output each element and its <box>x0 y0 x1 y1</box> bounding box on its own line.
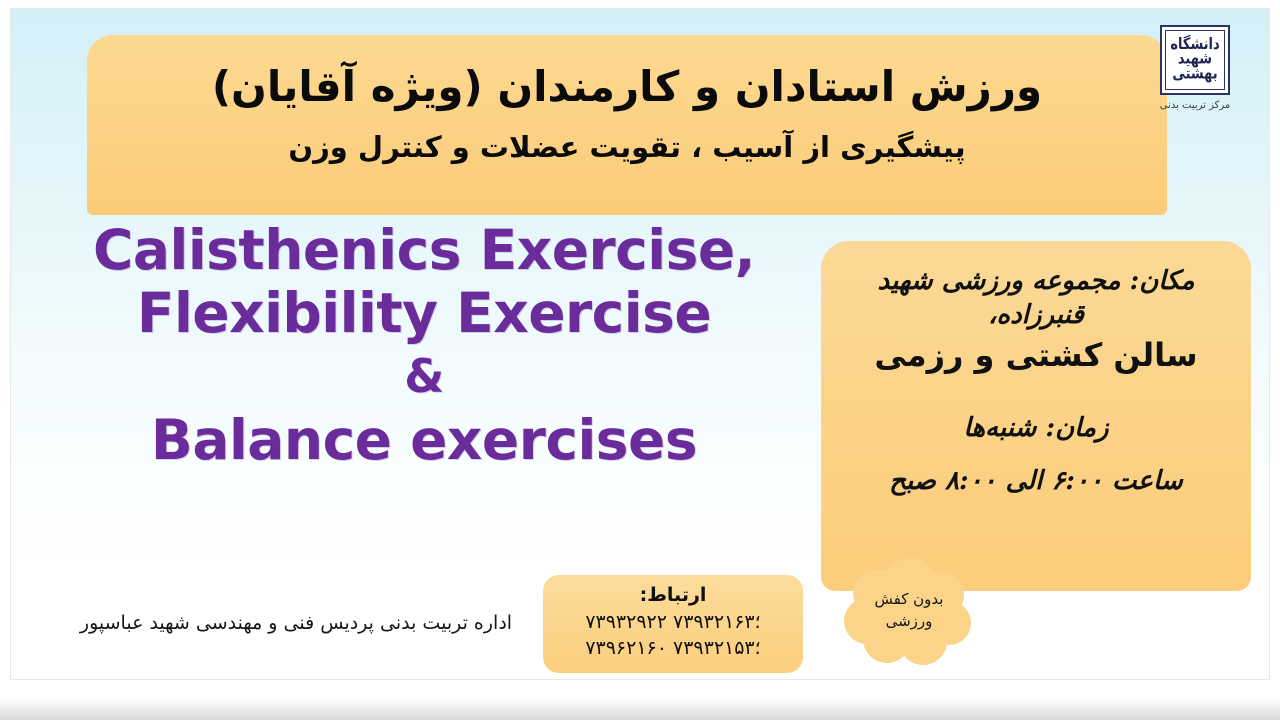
contact-phone-line-2: ۷۳۹۶۲۱۶۰ ؛۷۳۹۳۲۱۵۳ <box>553 636 793 662</box>
university-logo-glyphs: دانشگاه شهید بهشتی <box>1170 38 1219 82</box>
headline-ampersand: & <box>19 352 829 402</box>
footer-department: اداره تربیت بدنی پردیس فنی و مهندسی شهید… <box>71 612 521 634</box>
headline-line-2: Flexibility Exercise <box>19 284 829 343</box>
headline-line-1: Calisthenics Exercise, <box>19 221 829 280</box>
contact-phone-line-1: ۷۳۹۳۲۹۲۲ ؛۷۳۹۳۲۱۶۳ <box>553 610 793 636</box>
university-logo-block: دانشگاه شهید بهشتی مرکز تربیت بدنی <box>1139 25 1251 111</box>
headline-line-3: Balance exercises <box>19 411 829 470</box>
place-label: مکان: مجموعه ورزشی شهید قنبرزاده، <box>843 265 1229 333</box>
details-card: مکان: مجموعه ورزشی شهید قنبرزاده، سالن ک… <box>821 241 1251 591</box>
slide-frame: دانشگاه شهید بهشتی مرکز تربیت بدنی ورزش … <box>0 0 1280 720</box>
poster-title: ورزش استادان و کارمندان (ویژه آقایان) <box>127 61 1127 114</box>
cloud-shape-icon <box>843 559 975 671</box>
time-hours: ساعت ۶:۰۰ الی ۸:۰۰ صبح <box>843 463 1229 499</box>
logo-caption: مرکز تربیت بدنی <box>1139 100 1251 111</box>
poster-canvas: دانشگاه شهید بهشتی مرکز تربیت بدنی ورزش … <box>10 8 1270 680</box>
university-logo-icon: دانشگاه شهید بهشتی <box>1160 25 1230 95</box>
cloud-callout: بدون کفش ورزشی <box>843 559 975 671</box>
place-value: سالن کشتی و رزمی <box>843 335 1229 377</box>
time-day: زمان: شنبه‌ها <box>843 410 1229 446</box>
university-logo-inner: دانشگاه شهید بهشتی <box>1165 30 1225 90</box>
contact-title: ارتباط: <box>553 584 793 606</box>
english-headline-block: Calisthenics Exercise, Flexibility Exerc… <box>19 221 829 471</box>
header-banner: ورزش استادان و کارمندان (ویژه آقایان) پی… <box>87 35 1167 215</box>
poster-subtitle: پیشگیری از آسیب ، تقویت عضلات و کنترل وز… <box>127 130 1127 165</box>
contact-box: ارتباط: ۷۳۹۳۲۹۲۲ ؛۷۳۹۳۲۱۶۳ ۷۳۹۶۲۱۶۰ ؛۷۳۹… <box>543 575 803 673</box>
